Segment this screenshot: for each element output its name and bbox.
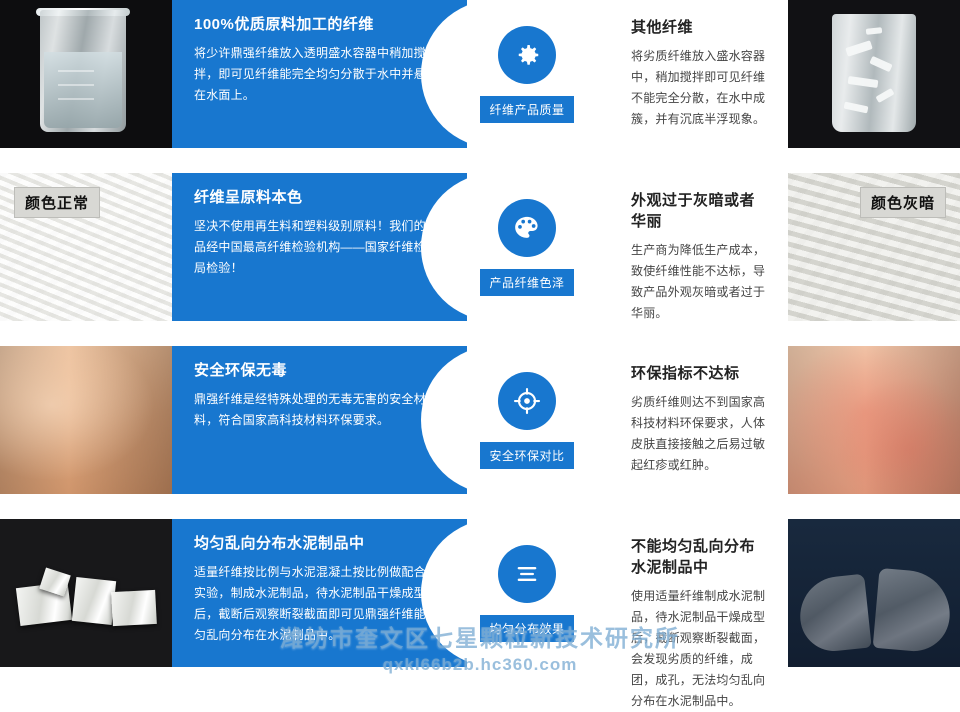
row-1-badge: 纤维产品质量 bbox=[480, 96, 573, 123]
normal-skin-arm-photo bbox=[0, 346, 172, 494]
row-4-badge: 均匀分布效果 bbox=[480, 615, 573, 642]
comparison-row-3: 安全环保无毒 鼎强纤维是经特殊处理的无毒无害的安全材料，符合国家高科技材料环保要… bbox=[0, 346, 960, 494]
row-4-circle-wrap: 均匀分布效果 bbox=[421, 519, 617, 667]
beaker-clear-water-photo bbox=[0, 0, 172, 148]
row-2-circle-wrap: 产品纤维色泽 bbox=[421, 173, 617, 321]
beaker-graduation-mark bbox=[58, 70, 94, 72]
row-1-white-title: 其他纤维 bbox=[631, 16, 768, 37]
beaker-water bbox=[44, 52, 122, 128]
row-4-white-title: 不能均匀乱向分布水泥制品中 bbox=[631, 535, 768, 577]
right-caption-label: 颜色灰暗 bbox=[860, 187, 946, 218]
row-3-blue-body: 鼎强纤维是经特殊处理的无毒无害的安全材料，符合国家高科技材料环保要求。 bbox=[194, 389, 445, 431]
row-2-white-title: 外观过于灰暗或者华丽 bbox=[631, 189, 768, 231]
gear-icon bbox=[498, 26, 556, 84]
fiber-bundle bbox=[72, 577, 116, 625]
row-2-blue-body: 坚决不使用再生料和塑料级别原料！我们的产品经中国最高纤维检验机构——国家纤维检验… bbox=[194, 216, 445, 279]
skin-shading bbox=[0, 346, 172, 494]
comparison-row-1: 100%优质原料加工的纤维 将少许鼎强纤维放入透明盛水容器中稍加搅拌，即可见纤维… bbox=[0, 0, 960, 148]
list-lines-icon bbox=[498, 545, 556, 603]
beaker-graduation-mark bbox=[58, 98, 94, 100]
comparison-row-2: 颜色正常 纤维呈原料本色 坚决不使用再生料和塑料级别原料！我们的产品经中国最高纤… bbox=[0, 173, 960, 321]
broken-concrete-photo bbox=[788, 519, 960, 667]
fiber-bundle bbox=[111, 590, 157, 626]
comparison-infographic-page: 100%优质原料加工的纤维 将少许鼎强纤维放入透明盛水容器中稍加搅拌，即可见纤维… bbox=[0, 0, 960, 693]
grey-fiber-photo: 颜色灰暗 bbox=[788, 173, 960, 321]
row-3-white-body: 劣质纤维则达不到国家高科技材料环保要求，人体皮肤直接接触之后易过敏起红疹或红肿。 bbox=[631, 392, 768, 476]
row-1-center: 纤维产品质量 bbox=[467, 0, 617, 148]
row-4-blue-title: 均匀乱向分布水泥制品中 bbox=[194, 535, 445, 553]
row-3-badge: 安全环保对比 bbox=[480, 442, 573, 469]
skin-rash-shading bbox=[788, 346, 960, 494]
comparison-row-4: 均匀乱向分布水泥制品中 适量纤维按比例与水泥混凝土按比例做配合比实验，制成水泥制… bbox=[0, 519, 960, 667]
row-2-blue-title: 纤维呈原料本色 bbox=[194, 189, 445, 207]
beaker-graduation-mark bbox=[58, 84, 94, 86]
row-3-center: 安全环保对比 bbox=[467, 346, 617, 494]
row-2-white-body: 生产商为降低生产成本，致使纤维性能不达标，导致产品外观灰暗或者过于华丽。 bbox=[631, 240, 768, 324]
row-4-blue-body: 适量纤维按比例与水泥混凝土按比例做配合比实验，制成水泥制品，待水泥制品干燥成型后… bbox=[194, 562, 445, 646]
row-3-white-title: 环保指标不达标 bbox=[631, 362, 768, 383]
photo-shadow-overlay bbox=[788, 519, 960, 667]
row-1-white-panel: 其他纤维 将劣质纤维放入盛水容器中，稍加搅拌即可见纤维不能完全分散，在水中成簇，… bbox=[617, 0, 788, 148]
fiber-bundles-photo bbox=[0, 519, 172, 667]
row-2-white-panel: 外观过于灰暗或者华丽 生产商为降低生产成本，致使纤维性能不达标，导致产品外观灰暗… bbox=[617, 173, 788, 321]
row-1-blue-body: 将少许鼎强纤维放入透明盛水容器中稍加搅拌，即可见纤维能完全均匀分散于水中并悬浮在… bbox=[194, 43, 445, 106]
target-icon bbox=[498, 372, 556, 430]
row-4-white-panel: 不能均匀乱向分布水泥制品中 使用适量纤维制成水泥制品，待水泥制品干燥成型后，截断… bbox=[617, 519, 788, 667]
row-1-white-body: 将劣质纤维放入盛水容器中，稍加搅拌即可见纤维不能完全分散，在水中成簇，并有沉底半… bbox=[631, 46, 768, 130]
row-4-center: 均匀分布效果 bbox=[467, 519, 617, 667]
row-4-white-body: 使用适量纤维制成水泥制品，待水泥制品干燥成型后，截断观察断裂截面，会发现劣质的纤… bbox=[631, 586, 768, 712]
row-2-center: 产品纤维色泽 bbox=[467, 173, 617, 321]
white-fiber-photo: 颜色正常 bbox=[0, 173, 172, 321]
row-1-circle-wrap: 纤维产品质量 bbox=[421, 0, 617, 148]
rash-skin-arm-photo bbox=[788, 346, 960, 494]
left-caption-label: 颜色正常 bbox=[14, 187, 100, 218]
glass-with-clumped-fiber-photo bbox=[788, 0, 960, 148]
row-3-white-panel: 环保指标不达标 劣质纤维则达不到国家高科技材料环保要求，人体皮肤直接接触之后易过… bbox=[617, 346, 788, 494]
row-1-blue-title: 100%优质原料加工的纤维 bbox=[194, 16, 445, 34]
row-3-circle-wrap: 安全环保对比 bbox=[421, 346, 617, 494]
row-2-badge: 产品纤维色泽 bbox=[480, 269, 573, 296]
row-3-blue-title: 安全环保无毒 bbox=[194, 362, 445, 380]
palette-icon bbox=[498, 199, 556, 257]
